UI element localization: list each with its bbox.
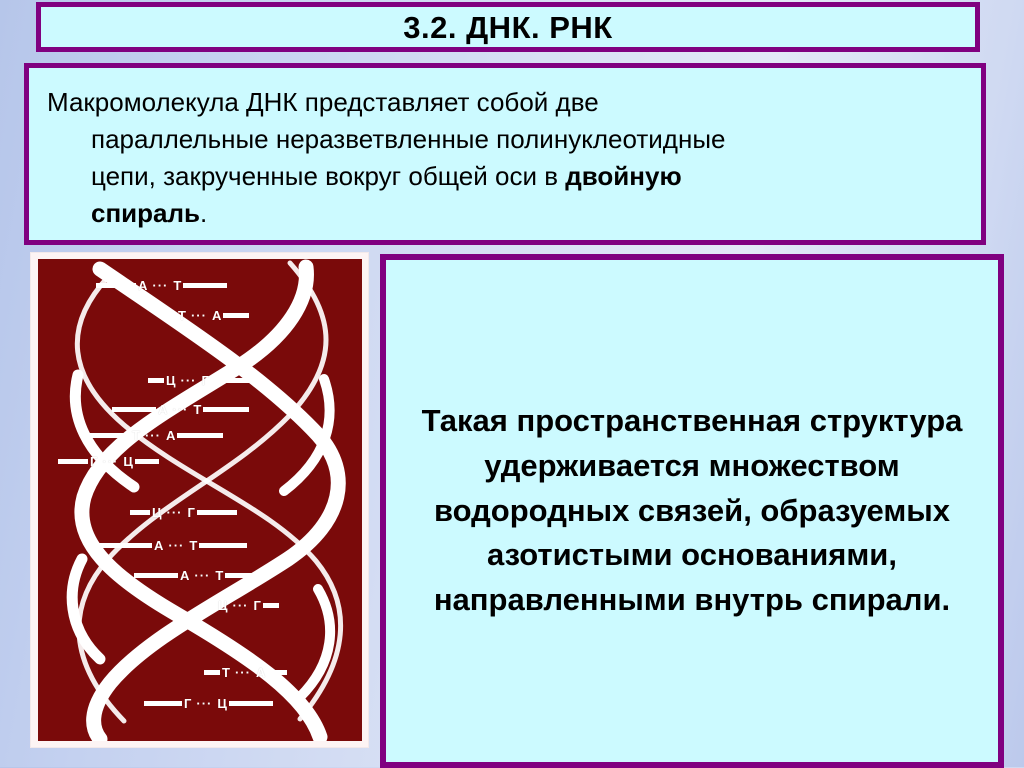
- slide-canvas: 3.2. ДНК. РНК Макромолекула ДНК представ…: [0, 0, 1024, 767]
- base-left: А: [156, 403, 169, 416]
- hydrogen-bond-icon: ···: [99, 455, 121, 468]
- base-left: А: [152, 539, 165, 552]
- base-right: Т: [187, 539, 199, 552]
- intro-line-2: параллельные неразветвленные полинуклеот…: [47, 121, 963, 158]
- intro-line-3: цепи, закрученные вокруг общей оси в дво…: [47, 158, 963, 195]
- base-pair-row: Г···Ц: [58, 455, 159, 468]
- hydrogen-bond-icon: ···: [232, 666, 254, 679]
- hydrogen-bond-icon: ···: [230, 599, 252, 612]
- intro-line-4-tail: .: [200, 198, 207, 228]
- base-left: Ц: [216, 599, 230, 612]
- intro-line-4: спираль.: [47, 195, 963, 232]
- base-left: Ц: [150, 506, 164, 519]
- base-pair-row: Т···А: [166, 309, 249, 322]
- base-right: Ц: [121, 455, 135, 468]
- base-left: Т: [220, 666, 232, 679]
- hydrogen-bond-icon: ···: [188, 309, 210, 322]
- dna-illustration-canvas: А···Т Т···А Ц···Г А···Т Т···А Г···Ц Ц···…: [38, 259, 362, 741]
- intro-line-4-emphasis: спираль: [91, 198, 200, 228]
- base-right: Г: [252, 599, 263, 612]
- hydrogen-bond-icon: ···: [169, 403, 191, 416]
- intro-paragraph: Макромолекула ДНК представляет собой две…: [47, 84, 963, 232]
- dna-double-helix-image: А···Т Т···А Ц···Г А···Т Т···А Г···Ц Ц···…: [31, 253, 368, 747]
- base-pair-row: Г···Ц: [144, 697, 273, 710]
- base-left: Ц: [164, 374, 178, 387]
- intro-line-3-text: цепи, закрученные вокруг общей оси в: [91, 161, 565, 191]
- base-pair-row: А···Т: [96, 279, 227, 292]
- base-right: Ц: [215, 697, 229, 710]
- base-right: Т: [191, 403, 203, 416]
- base-right: Т: [213, 569, 225, 582]
- base-right: Г: [186, 506, 197, 519]
- base-right: А: [210, 309, 223, 322]
- conclusion-paragraph: Такая пространственная структура удержив…: [408, 399, 976, 622]
- base-pair-row: Ц···Г: [130, 506, 237, 519]
- dna-helix-icon: [38, 259, 362, 741]
- conclusion-text-box: Такая пространственная структура удержив…: [380, 254, 1004, 768]
- base-pair-row: Ц···Г: [148, 374, 251, 387]
- page-title: 3.2. ДНК. РНК: [403, 12, 612, 43]
- hydrogen-bond-icon: ···: [193, 697, 215, 710]
- base-left: Т: [130, 429, 142, 442]
- base-left: А: [178, 569, 191, 582]
- base-pair-row: А···Т: [94, 539, 247, 552]
- intro-text-box: Макромолекула ДНК представляет собой две…: [24, 63, 986, 245]
- base-left: А: [136, 279, 149, 292]
- slide-title-box: 3.2. ДНК. РНК: [36, 2, 980, 52]
- hydrogen-bond-icon: ···: [164, 506, 186, 519]
- base-right: Г: [200, 374, 211, 387]
- hydrogen-bond-icon: ···: [149, 279, 171, 292]
- hydrogen-bond-icon: ···: [142, 429, 164, 442]
- base-left: Т: [176, 309, 188, 322]
- base-pair-row: Т···А: [204, 666, 287, 679]
- base-right: А: [254, 666, 267, 679]
- hydrogen-bond-icon: ···: [165, 539, 187, 552]
- hydrogen-bond-icon: ···: [191, 569, 213, 582]
- hydrogen-bond-icon: ···: [178, 374, 200, 387]
- base-pair-row: А···Т: [134, 569, 271, 582]
- base-left: Г: [182, 697, 193, 710]
- intro-line-1: Макромолекула ДНК представляет собой две: [47, 87, 599, 117]
- base-right: Т: [171, 279, 183, 292]
- base-right: А: [164, 429, 177, 442]
- base-pair-row: Ц···Г: [202, 599, 279, 612]
- base-left: Г: [88, 455, 99, 468]
- base-pair-row: А···Т: [112, 403, 249, 416]
- base-pair-row: Т···А: [84, 429, 223, 442]
- intro-line-3-emphasis: двойную: [565, 161, 681, 191]
